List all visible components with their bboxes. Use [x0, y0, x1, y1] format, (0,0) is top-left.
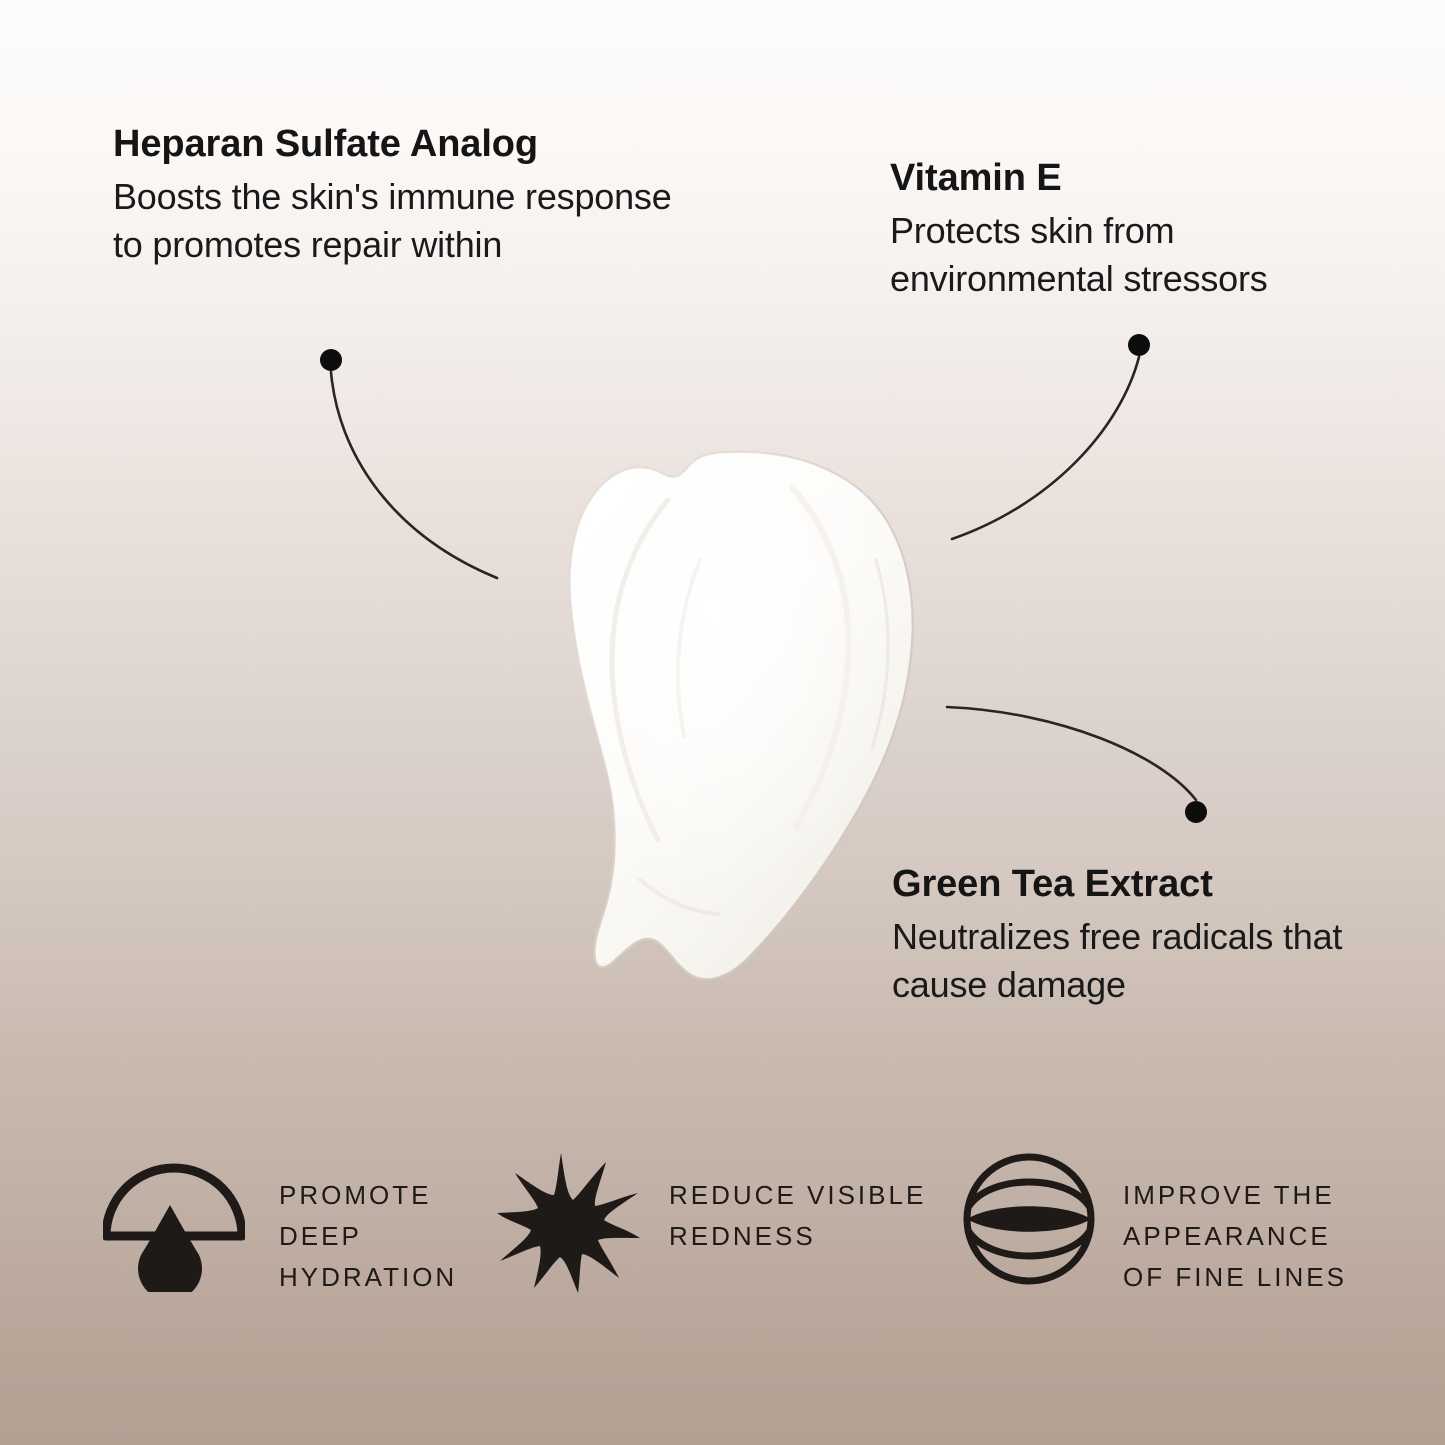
benefit-redness-label: REDUCE VISIBLE REDNESS	[669, 1150, 926, 1257]
callout-heparan-body: Boosts the skin's immune response to pro…	[113, 173, 673, 269]
connector-green-tea	[947, 707, 1207, 823]
callout-green-tea: Green Tea Extract Neutralizes free radic…	[892, 862, 1362, 1009]
benefits-row: PROMOTE DEEP HYDRATION REDUCE VISIBLE RE…	[0, 1150, 1445, 1310]
callout-green-tea-body: Neutralizes free radicals that cause dam…	[892, 913, 1362, 1009]
callout-heparan-title: Heparan Sulfate Analog	[113, 122, 673, 167]
dome-droplet-icon	[103, 1150, 245, 1292]
benefit-hydration-label: PROMOTE DEEP HYDRATION	[279, 1150, 457, 1298]
benefit-fine-lines-label: IMPROVE THE APPEARANCE OF FINE LINES	[1123, 1150, 1347, 1298]
ingredient-infographic: Heparan Sulfate Analog Boosts the skin's…	[0, 0, 1445, 1445]
connector-heparan	[320, 349, 497, 578]
callout-vitamin-e: Vitamin E Protects skin from environment…	[890, 156, 1360, 303]
benefit-promote-deep-hydration: PROMOTE DEEP HYDRATION	[103, 1150, 457, 1298]
connector-dot-vitamin-e	[1128, 334, 1150, 356]
callout-heparan: Heparan Sulfate Analog Boosts the skin's…	[113, 122, 673, 269]
cream-swatch	[570, 452, 913, 979]
callout-green-tea-title: Green Tea Extract	[892, 862, 1362, 907]
benefit-improve-fine-lines: IMPROVE THE APPEARANCE OF FINE LINES	[963, 1150, 1347, 1298]
starburst-icon	[497, 1150, 641, 1294]
connector-vitamin-e	[952, 334, 1150, 539]
benefit-reduce-visible-redness: REDUCE VISIBLE REDNESS	[497, 1150, 926, 1294]
callout-vitamin-e-body: Protects skin from environmental stresso…	[890, 207, 1360, 303]
connector-dot-green-tea	[1185, 801, 1207, 823]
callout-vitamin-e-title: Vitamin E	[890, 156, 1360, 201]
connector-dot-heparan	[320, 349, 342, 371]
eye-sphere-icon	[963, 1150, 1095, 1288]
